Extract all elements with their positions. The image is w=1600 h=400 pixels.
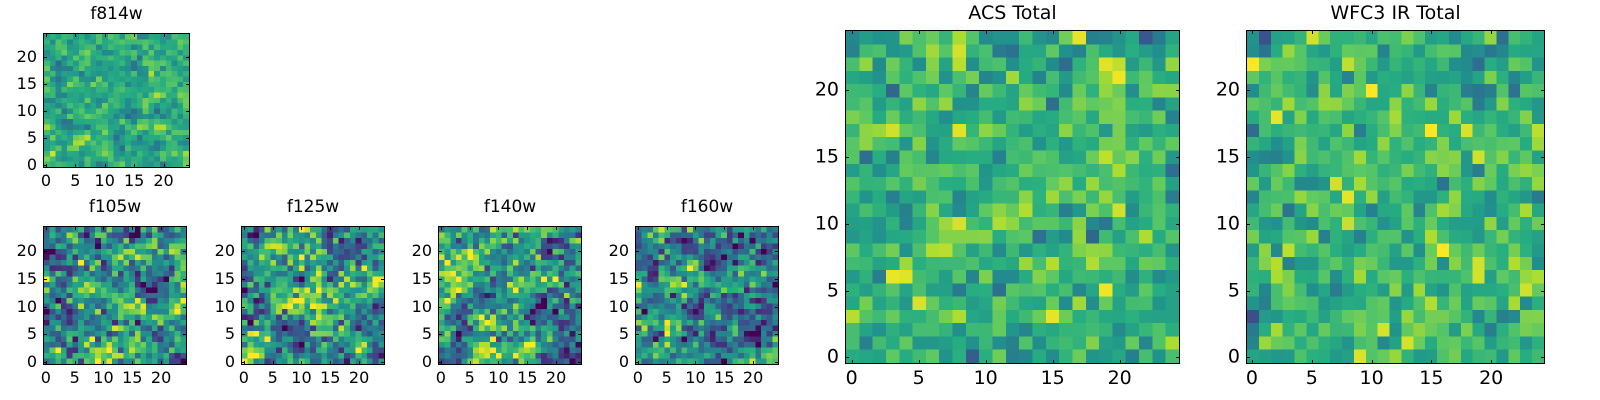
heatmap-image-acs-total: [846, 31, 1179, 363]
panel-title-f140w: f140w: [438, 199, 582, 216]
y-tick-label-f125w-0: 0: [181, 354, 235, 370]
y-tick-label-f160w-3: 15: [575, 271, 629, 287]
heatmap-image-f105w: [44, 227, 186, 364]
heatmap-axes-wfc3-ir-total[interactable]: [1246, 30, 1545, 364]
y-tick-label-f140w-0: 0: [378, 354, 432, 370]
x-tick-label-f814w-4: 20: [153, 173, 173, 189]
x-tick-label-f105w-2: 10: [93, 370, 113, 386]
y-tick-label-wfc3-ir-total-1: 5: [1186, 281, 1240, 300]
x-tick-label-f125w-0: 0: [239, 370, 249, 386]
y-tick-label-f140w-1: 5: [378, 326, 432, 342]
x-tick-label-f160w-2: 10: [685, 370, 705, 386]
x-tick-label-f105w-4: 20: [151, 370, 171, 386]
heatmap-axes-f160w[interactable]: [635, 226, 779, 365]
y-tick-label-wfc3-ir-total-3: 15: [1186, 147, 1240, 166]
y-tick-label-wfc3-ir-total-0: 0: [1186, 348, 1240, 367]
y-tick-label-acs-total-1: 5: [785, 281, 839, 300]
y-tick-label-f125w-1: 5: [181, 326, 235, 342]
y-tick-label-f105w-3: 15: [0, 271, 37, 287]
x-tick-label-f140w-0: 0: [436, 370, 446, 386]
heatmap-image-f160w: [636, 227, 778, 364]
y-tick-label-f140w-2: 10: [378, 299, 432, 315]
x-tick-label-f140w-4: 20: [546, 370, 566, 386]
x-tick-label-f814w-2: 10: [95, 173, 115, 189]
panel-title-f125w: f125w: [241, 199, 385, 216]
x-tick-label-f160w-3: 15: [714, 370, 734, 386]
y-tick-label-f814w-3: 15: [0, 76, 37, 92]
y-tick-label-f160w-2: 10: [575, 299, 629, 315]
panel-title-f160w: f160w: [635, 199, 779, 216]
figure-canvas: f814w0510152005101520f105w05101520051015…: [0, 0, 1600, 400]
y-tick-label-acs-total-2: 10: [785, 214, 839, 233]
heatmap-axes-acs-total[interactable]: [845, 30, 1180, 364]
x-tick-label-f105w-3: 15: [122, 370, 142, 386]
y-tick-label-f140w-4: 20: [378, 243, 432, 259]
x-tick-label-f125w-1: 5: [268, 370, 278, 386]
y-tick-label-f140w-3: 15: [378, 271, 432, 287]
x-tick-label-f814w-3: 15: [124, 173, 144, 189]
panel-wfc3-ir-total: WFC3 IR Total0510152005101520: [0, 0, 1600, 400]
x-tick-label-f105w-1: 5: [70, 370, 80, 386]
x-tick-label-f125w-3: 15: [320, 370, 340, 386]
heatmap-image-f125w: [242, 227, 384, 364]
x-tick-label-acs-total-3: 15: [1041, 369, 1065, 388]
y-tick-label-f160w-4: 20: [575, 243, 629, 259]
x-tick-label-wfc3-ir-total-2: 10: [1359, 369, 1383, 388]
x-tick-label-wfc3-ir-total-1: 5: [1306, 369, 1318, 388]
x-tick-label-wfc3-ir-total-4: 20: [1479, 369, 1503, 388]
x-tick-label-f105w-0: 0: [41, 370, 51, 386]
panel-title-wfc3-ir-total: WFC3 IR Total: [1246, 4, 1545, 23]
heatmap-image-f140w: [439, 227, 581, 364]
y-tick-label-acs-total-4: 20: [785, 81, 839, 100]
x-tick-label-acs-total-2: 10: [974, 369, 998, 388]
x-tick-label-f140w-1: 5: [465, 370, 475, 386]
y-tick-label-wfc3-ir-total-2: 10: [1186, 214, 1240, 233]
y-tick-label-f105w-1: 5: [0, 326, 37, 342]
x-tick-label-f125w-4: 20: [349, 370, 369, 386]
x-tick-label-f814w-1: 5: [70, 173, 80, 189]
x-tick-label-f160w-1: 5: [662, 370, 672, 386]
y-tick-label-f125w-4: 20: [181, 243, 235, 259]
y-tick-label-acs-total-0: 0: [785, 348, 839, 367]
y-tick-label-f814w-2: 10: [0, 103, 37, 119]
y-tick-label-f105w-0: 0: [0, 354, 37, 370]
heatmap-axes-f140w[interactable]: [438, 226, 582, 365]
y-tick-label-f160w-1: 5: [575, 326, 629, 342]
heatmap-axes-f814w[interactable]: [43, 33, 190, 168]
y-tick-label-f814w-4: 20: [0, 49, 37, 65]
x-tick-label-acs-total-1: 5: [913, 369, 925, 388]
x-tick-label-f140w-3: 15: [517, 370, 537, 386]
x-tick-label-f125w-2: 10: [291, 370, 311, 386]
heatmap-image-f814w: [44, 34, 189, 167]
y-tick-label-f125w-2: 10: [181, 299, 235, 315]
x-tick-label-acs-total-0: 0: [846, 369, 858, 388]
panel-title-f814w: f814w: [43, 6, 190, 23]
x-tick-label-wfc3-ir-total-3: 15: [1419, 369, 1443, 388]
y-tick-label-f160w-0: 0: [575, 354, 629, 370]
y-tick-label-f814w-0: 0: [0, 157, 37, 173]
y-tick-label-f814w-1: 5: [0, 130, 37, 146]
x-tick-label-f160w-4: 20: [743, 370, 763, 386]
y-tick-label-wfc3-ir-total-4: 20: [1186, 81, 1240, 100]
y-tick-label-acs-total-3: 15: [785, 147, 839, 166]
y-tick-label-f125w-3: 15: [181, 271, 235, 287]
panel-title-acs-total: ACS Total: [845, 4, 1180, 23]
x-tick-label-acs-total-4: 20: [1108, 369, 1132, 388]
x-tick-label-f160w-0: 0: [633, 370, 643, 386]
heatmap-axes-f105w[interactable]: [43, 226, 187, 365]
x-tick-label-wfc3-ir-total-0: 0: [1246, 369, 1258, 388]
x-tick-label-f140w-2: 10: [488, 370, 508, 386]
panel-title-f105w: f105w: [43, 199, 187, 216]
heatmap-axes-f125w[interactable]: [241, 226, 385, 365]
x-tick-label-f814w-0: 0: [41, 173, 51, 189]
heatmap-image-wfc3-ir-total: [1247, 31, 1544, 363]
y-tick-label-f105w-2: 10: [0, 299, 37, 315]
y-tick-label-f105w-4: 20: [0, 243, 37, 259]
